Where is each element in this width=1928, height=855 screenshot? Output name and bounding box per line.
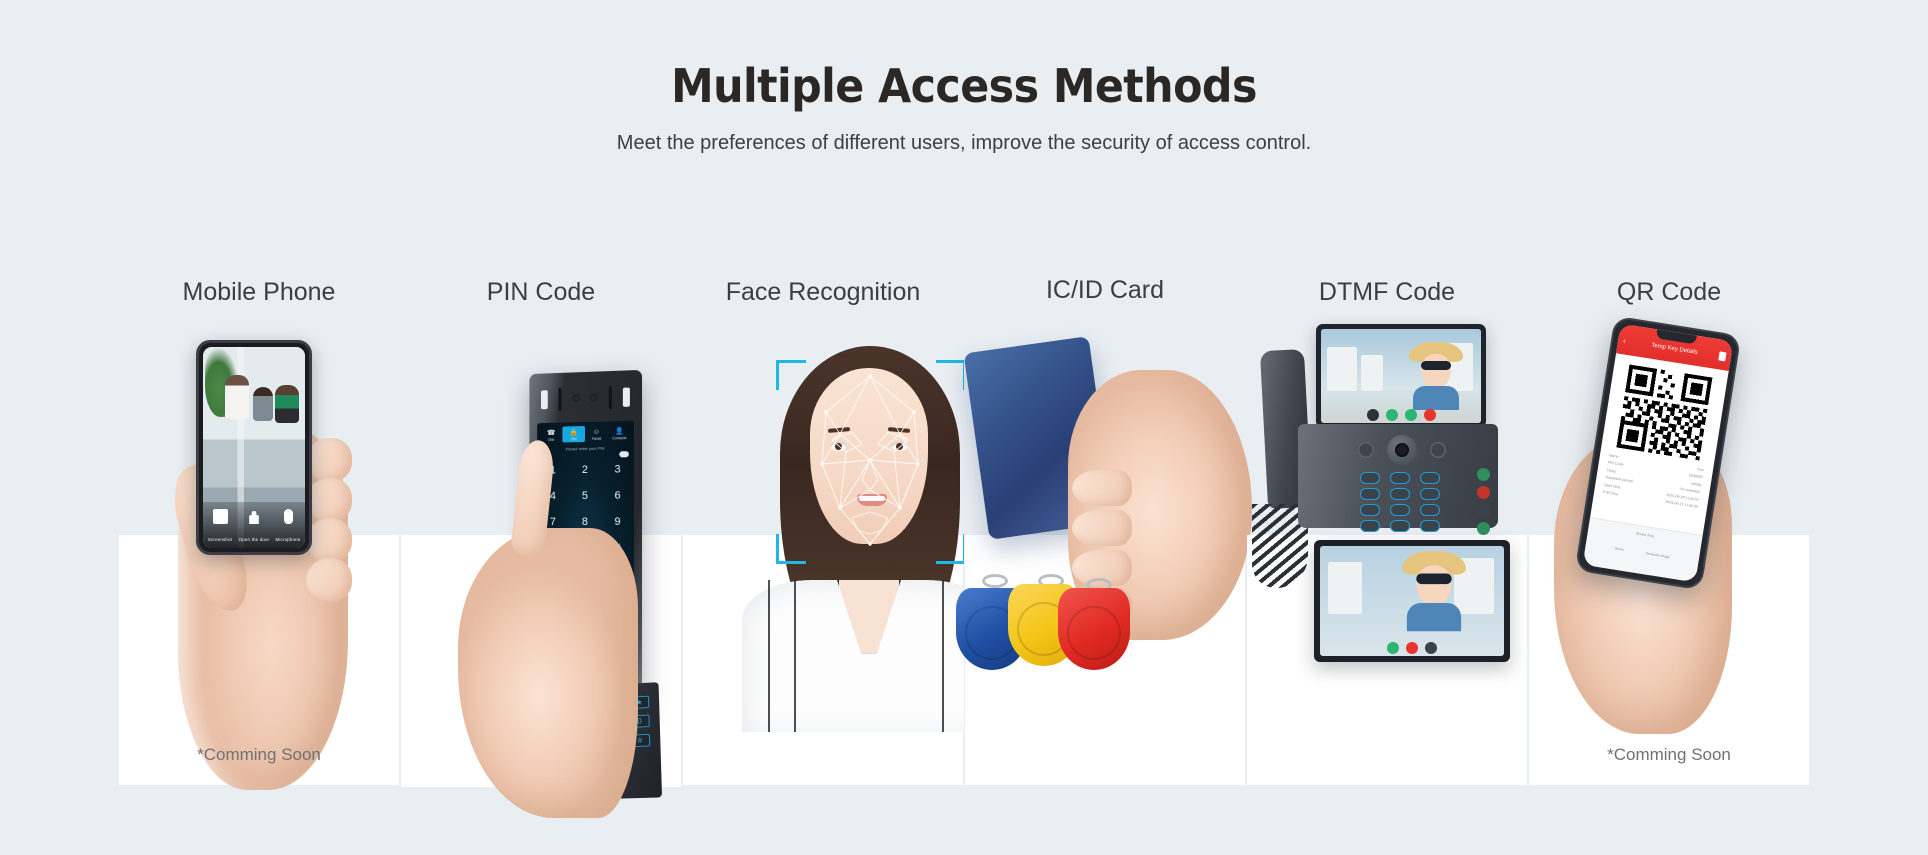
speaker-slit <box>609 386 612 409</box>
tab-pin[interactable]: 🔒 PIN <box>562 426 585 442</box>
temp-key-details-list: Name: Kim PIN Code: 5949503 Times: Infin… <box>1594 452 1713 510</box>
face-graphic <box>1416 565 1451 605</box>
person-graphic <box>225 375 249 419</box>
app-header: ‹ Temp Key Details <box>1616 324 1733 371</box>
page-header: Multiple Access Methods Meet the prefere… <box>0 0 1928 155</box>
desk-phone-screen <box>1316 324 1486 428</box>
key-5[interactable]: 5 <box>569 483 601 509</box>
tab-contacts[interactable]: 👤 Contacts <box>608 425 631 442</box>
screenshot-label: Screenshot <box>208 537 232 542</box>
dtmf-key[interactable] <box>1360 488 1380 500</box>
tab-contacts-label: Contacts <box>608 436 631 441</box>
desk-phone-body <box>1298 424 1498 528</box>
illustration-dtmf-code <box>1256 308 1528 788</box>
hangup-icon[interactable] <box>1424 409 1436 421</box>
generate-image-label: Generate image <box>1645 551 1670 559</box>
key-2[interactable]: 2 <box>569 457 601 483</box>
detect-bracket-top-left <box>776 360 806 390</box>
shirt-graphic <box>742 580 964 732</box>
detect-bracket-bottom-left <box>776 534 806 564</box>
access-methods-page: Multiple Access Methods Meet the prefere… <box>0 0 1928 855</box>
device-tab-bar: ☎ Dial 🔒 PIN ☺ Facial <box>537 424 634 443</box>
method-label-qr-code: QR Code <box>1528 278 1810 307</box>
snapshot-icon[interactable] <box>1425 642 1437 654</box>
open-door-button[interactable]: Open the door <box>237 509 271 546</box>
hangup-icon[interactable] <box>1406 642 1418 654</box>
coming-soon-note-mobile: *Comming Soon <box>118 745 400 765</box>
call-controls[interactable] <box>1321 409 1481 421</box>
share-label: Share <box>1615 546 1625 551</box>
microphone-icon <box>284 509 293 524</box>
detail-value: Kim <box>1697 467 1704 472</box>
qr-code-graphic <box>1616 364 1712 460</box>
body-graphic <box>1413 386 1459 410</box>
dtmf-key[interactable] <box>1420 488 1440 500</box>
face-mesh-overlay <box>796 368 944 568</box>
line-key-green[interactable] <box>1477 522 1490 535</box>
indoor-tablet <box>1314 540 1510 662</box>
unlock-icon <box>247 509 262 524</box>
mute-icon[interactable] <box>1367 409 1379 421</box>
device-sensor-bar <box>536 379 635 416</box>
illustration-qr-code: ‹ Temp Key Details <box>1536 306 1810 786</box>
line-key-red[interactable] <box>1477 486 1490 499</box>
dtmf-key[interactable] <box>1360 472 1380 484</box>
message-icon[interactable] <box>1405 409 1417 421</box>
illustration-pin-code: ☎ Dial 🔒 PIN ☺ Facial <box>400 310 682 790</box>
line-key-green[interactable] <box>1477 468 1490 481</box>
tablet-call-controls[interactable] <box>1320 642 1504 654</box>
home-button[interactable] <box>1358 442 1374 458</box>
portrait-graphic <box>718 312 964 732</box>
dtmf-key[interactable] <box>1360 504 1380 516</box>
detail-value: 2024-06-21 11:55:00 <box>1665 500 1698 509</box>
pin-hint-text: Please enter your PIN <box>537 445 634 452</box>
face-graphic <box>1421 354 1451 388</box>
dtmf-key[interactable] <box>1420 504 1440 516</box>
keyring-icon <box>982 574 1008 588</box>
tablet-video-feed <box>1320 546 1504 656</box>
screenshot-button[interactable]: Screenshot <box>203 509 237 546</box>
smartphone-graphic: Screenshot Open the door Microphone <box>196 340 312 555</box>
dtmf-keypad[interactable] <box>1360 472 1442 532</box>
detail-label: End Time: <box>1603 490 1620 496</box>
page-title: Multiple Access Methods <box>67 62 1860 110</box>
key-6[interactable]: 6 <box>601 482 634 508</box>
phone-screen: Screenshot Open the door Microphone <box>203 347 305 548</box>
illustration-mobile-phone: Screenshot Open the door Microphone <box>118 310 400 790</box>
share-button[interactable]: Share <box>1614 537 1626 556</box>
app-footer: Share Key Share Generate image <box>1583 517 1703 582</box>
page-subtitle: Meet the preferences of different users,… <box>0 132 1928 155</box>
tab-facial-label: Facial <box>585 436 608 441</box>
answer-icon[interactable] <box>1386 409 1398 421</box>
person-graphic <box>253 387 273 421</box>
dtmf-key[interactable] <box>1360 520 1380 532</box>
body-graphic <box>1406 603 1460 631</box>
detail-label: Name: <box>1609 453 1620 459</box>
open-door-label: Open the door <box>239 537 270 542</box>
coming-soon-note-qr: *Comming Soon <box>1528 745 1810 765</box>
sunglasses-icon <box>1421 361 1451 370</box>
key-3[interactable]: 3 <box>601 456 634 483</box>
delete-icon[interactable] <box>1718 351 1726 361</box>
shirt-vneck <box>837 580 901 654</box>
detail-value: Infinite <box>1691 481 1702 487</box>
ir-light <box>622 387 629 406</box>
notch <box>1656 329 1697 344</box>
sunglasses-icon <box>1416 573 1451 584</box>
microphone-button[interactable]: Microphone <box>271 509 305 546</box>
tab-pin-label: PIN <box>562 437 585 441</box>
detail-label: Start Time: <box>1604 483 1622 490</box>
ir-light <box>541 390 548 409</box>
microphone-label: Microphone <box>276 537 301 542</box>
dtmf-key[interactable] <box>1390 472 1410 484</box>
dtmf-key[interactable] <box>1390 488 1410 500</box>
detail-value: No repetition <box>1680 487 1701 494</box>
navigation-dial[interactable] <box>1384 432 1420 468</box>
dtmf-key[interactable] <box>1390 504 1410 516</box>
illustration-ic-id-card <box>936 310 1266 790</box>
access-methods-row: Mobile Phone <box>0 250 1928 850</box>
speaker-slit <box>558 387 561 410</box>
method-label-dtmf-code: DTMF Code <box>1246 278 1528 307</box>
method-label-pin-code: PIN Code <box>400 278 682 307</box>
hand-graphic <box>458 528 638 818</box>
method-label-ic-id-card: IC/ID Card <box>964 276 1246 305</box>
back-button[interactable] <box>1430 442 1446 458</box>
key-9[interactable]: 9 <box>601 509 634 535</box>
rfid-fobs-group <box>954 572 1144 682</box>
call-action-bar: Screenshot Open the door Microphone <box>203 502 305 548</box>
function-keys[interactable] <box>1477 468 1490 535</box>
person-graphic <box>275 385 299 423</box>
detail-label: Times: <box>1606 468 1617 474</box>
dtmf-key[interactable] <box>1420 520 1440 532</box>
rfid-fob-red <box>1058 588 1130 670</box>
screenshot-icon <box>213 509 228 524</box>
answer-icon[interactable] <box>1387 642 1399 654</box>
camera-lens-icon <box>590 394 598 402</box>
tab-facial[interactable]: ☺ Facial <box>585 425 608 442</box>
detail-label: PIN Code: <box>1608 461 1625 468</box>
intercom-video-feed <box>1321 329 1481 423</box>
visitor-graphic <box>1399 551 1467 629</box>
line-key-dark[interactable] <box>1477 504 1490 517</box>
dtmf-key[interactable] <box>1420 472 1440 484</box>
camera-lens-icon <box>572 394 580 402</box>
method-label-mobile-phone: Mobile Phone <box>118 278 400 307</box>
dtmf-key[interactable] <box>1390 520 1410 532</box>
generate-image-button[interactable]: Generate image <box>1645 541 1672 563</box>
visitor-graphic <box>1407 342 1465 408</box>
detail-value: 5949503 <box>1689 474 1703 480</box>
illustration-face-recognition <box>682 290 964 790</box>
tab-dial[interactable]: ☎ Dial <box>540 427 562 443</box>
